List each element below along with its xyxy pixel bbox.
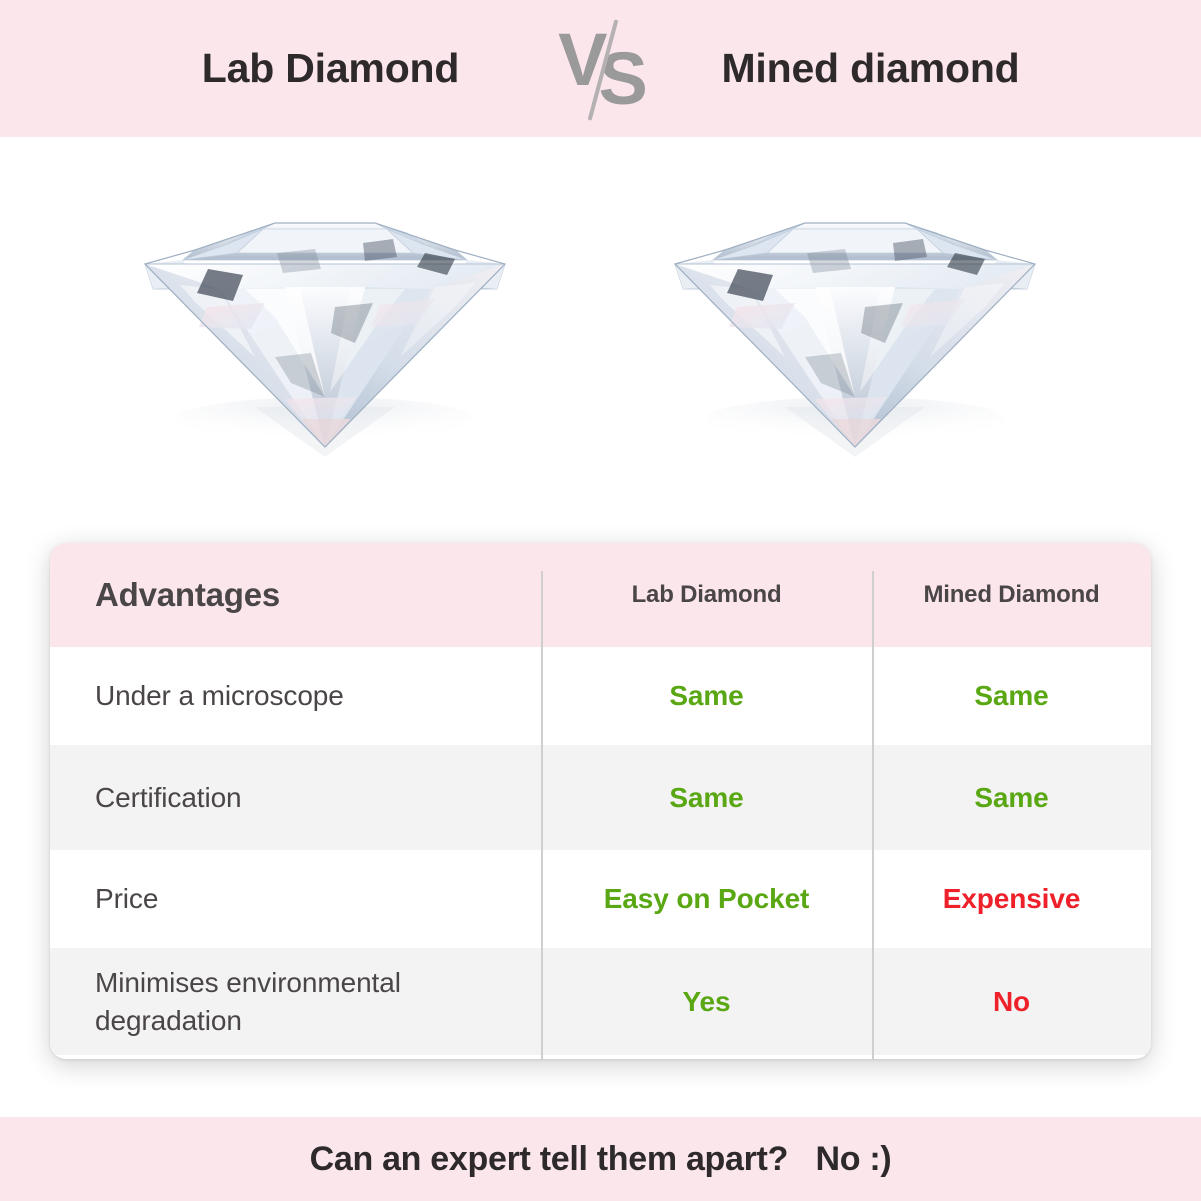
diamond-illustration [125, 157, 525, 487]
diamond-images-area [0, 137, 1201, 537]
row-feature-label: Price [95, 883, 158, 914]
table-row: Price Easy on Pocket Expensive [50, 850, 1151, 948]
table-row: Under a microscope Same Same [50, 647, 1151, 745]
row-lab-cell: Yes [541, 986, 872, 1018]
header-cell-advantages: Advantages [50, 576, 541, 614]
row-lab-value: Same [669, 680, 743, 711]
footer-question: Can an expert tell them apart? No :) [310, 1140, 892, 1179]
row-lab-value: Yes [683, 986, 731, 1017]
row-mined-cell: Same [872, 680, 1151, 712]
lab-diamond-image [125, 157, 525, 487]
vs-v-glyph: V [558, 18, 600, 101]
column-divider-2 [872, 571, 874, 1059]
header-inner: Lab Diamond VS Mined diamond [0, 14, 1201, 124]
left-title: Lab Diamond [116, 45, 546, 92]
row-feature-cell: Under a microscope [50, 677, 541, 715]
row-lab-value: Easy on Pocket [604, 883, 810, 914]
row-mined-cell: Same [872, 782, 1151, 814]
vs-badge: VS [546, 14, 656, 124]
mined-diamond-image [655, 157, 1055, 487]
header-cell-lab: Lab Diamond [541, 581, 872, 609]
table-row: Minimises environmental degradation Yes … [50, 948, 1151, 1055]
header-cell-mined: Mined Diamond [872, 581, 1151, 609]
header-label-mined: Mined Diamond [923, 581, 1099, 608]
header-band: Lab Diamond VS Mined diamond [0, 0, 1201, 137]
row-lab-value: Same [669, 782, 743, 813]
column-divider-1 [541, 571, 543, 1059]
row-lab-cell: Easy on Pocket [541, 883, 872, 915]
row-feature-cell: Minimises environmental degradation [50, 964, 541, 1040]
footer-band: Can an expert tell them apart? No :) [0, 1117, 1201, 1201]
row-feature-label: Under a microscope [95, 680, 344, 711]
table-header-row: Advantages Lab Diamond Mined Diamond [50, 543, 1151, 647]
row-feature-cell: Certification [50, 779, 541, 817]
diamond-illustration [655, 157, 1055, 487]
comparison-table-card: Advantages Lab Diamond Mined Diamond Und… [50, 543, 1151, 1059]
right-title: Mined diamond [656, 45, 1086, 92]
header-label-advantages: Advantages [95, 576, 280, 613]
row-mined-value: Expensive [943, 883, 1081, 914]
row-lab-cell: Same [541, 680, 872, 712]
table-row: Certification Same Same [50, 745, 1151, 850]
row-mined-cell: Expensive [872, 883, 1151, 915]
table-body: Under a microscope Same Same Certificati… [50, 647, 1151, 1055]
vs-s-glyph: S [599, 37, 641, 120]
row-feature-label: Minimises environmental degradation [95, 967, 401, 1036]
row-mined-cell: No [872, 986, 1151, 1018]
row-mined-value: Same [974, 680, 1048, 711]
comparison-infographic: Lab Diamond VS Mined diamond [0, 0, 1201, 1201]
row-lab-cell: Same [541, 782, 872, 814]
row-feature-cell: Price [50, 880, 541, 918]
row-feature-label: Certification [95, 782, 242, 813]
row-mined-value: No [993, 986, 1030, 1017]
row-mined-value: Same [974, 782, 1048, 813]
header-label-lab: Lab Diamond [632, 581, 782, 608]
